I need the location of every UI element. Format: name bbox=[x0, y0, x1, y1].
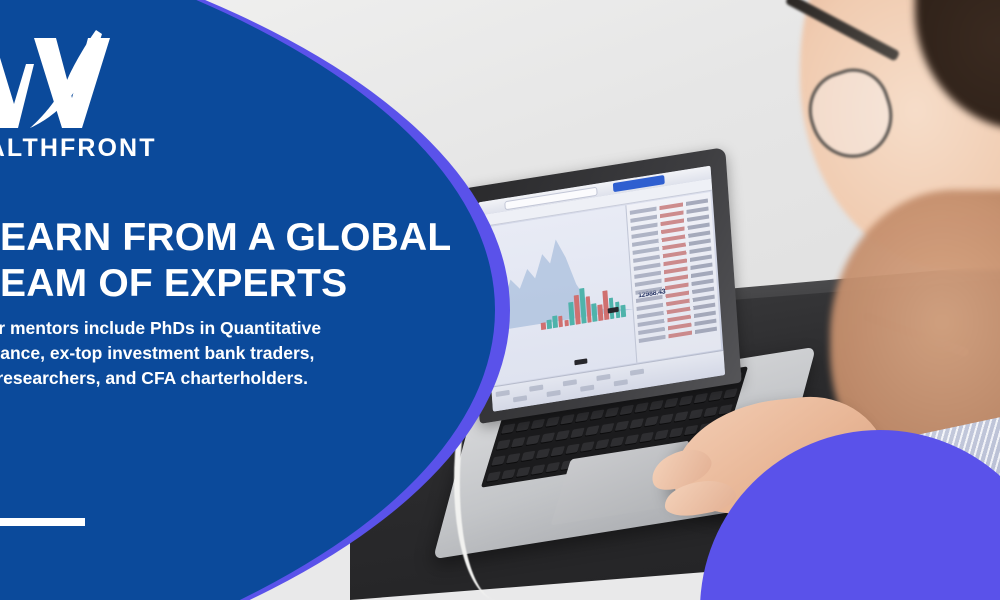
accent-rule bbox=[0, 518, 85, 526]
subcopy-line-1: Our mentors include PhDs in Quantitative bbox=[0, 316, 444, 341]
brand-logo[interactable]: EALTHFRONT bbox=[0, 24, 157, 163]
keyboard-key bbox=[620, 405, 634, 415]
keyboard-key bbox=[704, 407, 718, 417]
keyboard-key bbox=[536, 448, 550, 458]
keyboard-key bbox=[546, 462, 560, 472]
headline-line-2: TEAM OF EXPERTS bbox=[0, 261, 496, 307]
keyboard-key bbox=[531, 464, 545, 474]
keyboard-key bbox=[605, 407, 619, 417]
screen-tab-chip bbox=[547, 390, 561, 397]
w-swoosh-logo-icon bbox=[0, 24, 136, 132]
keyboard-key bbox=[629, 418, 643, 428]
screen-tab-chip bbox=[614, 379, 628, 386]
laptop-screen: 12988.43 bbox=[478, 166, 725, 412]
keyboard-key bbox=[545, 416, 559, 426]
keyboard-key bbox=[649, 400, 663, 410]
chart-volume-bar bbox=[547, 319, 552, 329]
keyboard-key bbox=[654, 430, 668, 440]
keyboard-key bbox=[615, 421, 629, 431]
keyboard-key bbox=[595, 439, 609, 449]
keyboard-key bbox=[600, 423, 614, 433]
chart-volume-bar bbox=[598, 305, 604, 321]
keyboard-key bbox=[694, 393, 708, 403]
screen-tab-chip bbox=[596, 374, 610, 381]
screen-tab-chip bbox=[630, 369, 644, 376]
chart-volume-bar bbox=[564, 320, 569, 326]
chart-volume-bar bbox=[552, 315, 557, 328]
keyboard-key bbox=[723, 388, 737, 398]
chart-volume-bar bbox=[541, 323, 546, 330]
subheadline: Our mentors include PhDs in Quantitative… bbox=[0, 316, 444, 391]
keyboard-key bbox=[585, 425, 599, 435]
banner-content: EALTHFRONT LEARN FROM A GLOBAL TEAM OF E… bbox=[0, 0, 460, 600]
keyboard-key bbox=[570, 428, 584, 438]
headline-line-1: LEARN FROM A GLOBAL bbox=[0, 215, 496, 261]
keyboard-key bbox=[634, 402, 648, 412]
keyboard-key bbox=[560, 414, 574, 424]
chart-volume-bar bbox=[621, 304, 626, 317]
subcopy-line-3: AI researchers, and CFA charterholders. bbox=[0, 366, 444, 391]
keyboard-key bbox=[708, 391, 722, 401]
keyboard-key bbox=[610, 437, 624, 447]
keyboard-key bbox=[575, 412, 589, 422]
brand-wordmark: EALTHFRONT bbox=[0, 134, 157, 163]
promo-banner: 12988.43 bbox=[0, 0, 1000, 600]
keyboard-key bbox=[580, 441, 594, 451]
page-title: LEARN FROM A GLOBAL TEAM OF EXPERTS bbox=[0, 215, 496, 307]
keyboard-key bbox=[644, 416, 658, 426]
keyboard-key bbox=[551, 446, 565, 456]
keyboard-key bbox=[659, 414, 673, 424]
keyboard-key bbox=[664, 398, 678, 408]
keyboard-key bbox=[679, 395, 693, 405]
keyboard-key bbox=[590, 409, 604, 419]
keyboard-key bbox=[565, 444, 579, 454]
screen-tab-chip bbox=[529, 385, 543, 392]
keyboard-key bbox=[669, 427, 683, 437]
keyboard-key bbox=[689, 409, 703, 419]
chart-volume-bar bbox=[558, 316, 563, 327]
chart-volume-bar bbox=[585, 296, 591, 323]
keyboard-key bbox=[541, 432, 555, 442]
screen-tab-chip bbox=[580, 385, 594, 392]
keyboard-key bbox=[639, 432, 653, 442]
keyboard-key bbox=[674, 411, 688, 421]
subcopy-line-2: Finance, ex-top investment bank traders, bbox=[0, 341, 444, 366]
chart-volume-bar bbox=[602, 291, 609, 320]
keyboard-key bbox=[555, 430, 569, 440]
keyboard-key bbox=[625, 434, 639, 444]
screen-tab-chip bbox=[563, 379, 577, 386]
quote-watchlist-panel: 12988.43 bbox=[626, 192, 722, 363]
